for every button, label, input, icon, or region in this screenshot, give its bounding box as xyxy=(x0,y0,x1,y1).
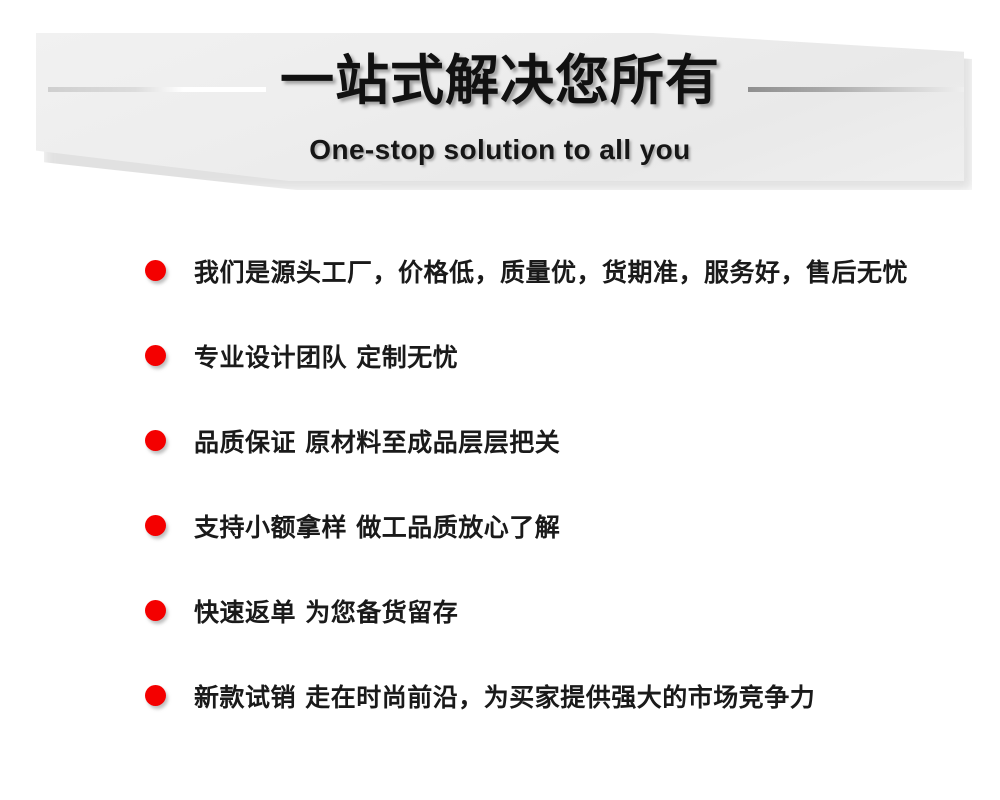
red-dot-icon xyxy=(145,515,166,536)
feature-text: 快速返单 为您备货留存 xyxy=(194,593,458,629)
promo-banner: 一站式解决您所有 One-stop solution to all you xyxy=(0,0,1000,200)
red-dot-icon xyxy=(145,260,166,281)
red-dot-icon xyxy=(145,430,166,451)
feature-text: 专业设计团队 定制无忧 xyxy=(194,338,458,374)
list-item: 支持小额拿样 做工品质放心了解 xyxy=(0,483,1000,568)
feature-text: 品质保证 原材料至成品层层把关 xyxy=(194,423,560,459)
feature-list: 我们是源头工厂，价格低，质量优，货期准，服务好，售后无忧 专业设计团队 定制无忧… xyxy=(0,228,1000,738)
feature-text: 新款试销 走在时尚前沿，为买家提供强大的市场竞争力 xyxy=(194,678,815,714)
list-item: 品质保证 原材料至成品层层把关 xyxy=(0,398,1000,483)
feature-text: 我们是源头工厂，价格低，质量优，货期准，服务好，售后无忧 xyxy=(194,253,908,289)
red-dot-icon xyxy=(145,600,166,621)
list-item: 快速返单 为您备货留存 xyxy=(0,568,1000,653)
list-item: 新款试销 走在时尚前沿，为买家提供强大的市场竞争力 xyxy=(0,653,1000,738)
feature-text: 支持小额拿样 做工品质放心了解 xyxy=(194,508,560,544)
red-dot-icon xyxy=(145,685,166,706)
red-dot-icon xyxy=(145,345,166,366)
list-item: 我们是源头工厂，价格低，质量优，货期准，服务好，售后无忧 xyxy=(0,228,1000,313)
list-item: 专业设计团队 定制无忧 xyxy=(0,313,1000,398)
banner-subtitle: One-stop solution to all you xyxy=(0,133,1000,167)
banner-title: 一站式解决您所有 xyxy=(0,54,1000,108)
